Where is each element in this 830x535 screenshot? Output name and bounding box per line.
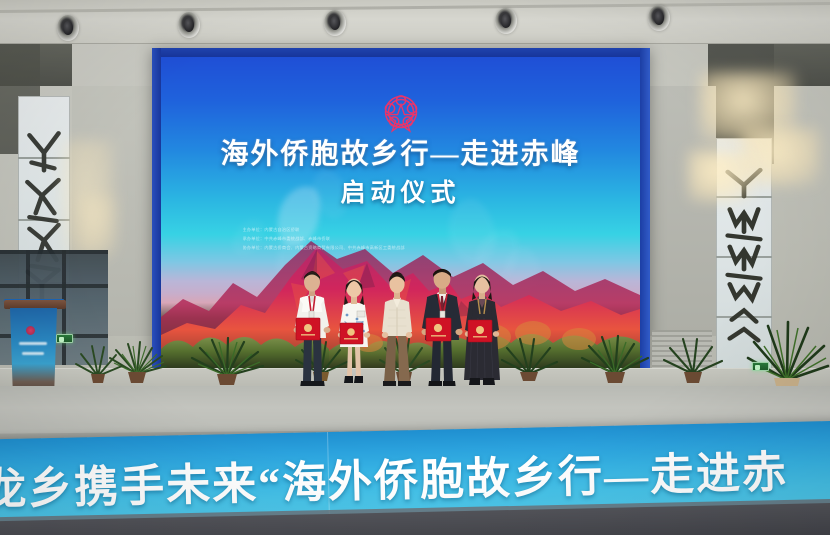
wall-vent-grille (652, 330, 712, 370)
podium-top-surface (4, 300, 66, 309)
ceiling-seam (0, 2, 830, 13)
ceiling-soffit-right (774, 44, 830, 86)
credit-line: 承办单位：中共赤峰市委统战部、赤峰市侨联 (242, 234, 558, 243)
lattice-motif-icon (722, 164, 767, 351)
led-screen-title: 海外侨胞故乡行—走进赤峰 (161, 135, 640, 175)
ceiling-spotlight-icon (495, 8, 517, 34)
podium-front-panel (7, 308, 57, 398)
person-on-stage (330, 273, 378, 395)
led-screen-credits: 主办单位：内蒙古自治区侨联 承办单位：中共赤峰市委统战部、赤峰市侨联 协办单位：… (242, 225, 558, 252)
ceiling-spotlight-icon (324, 10, 346, 36)
speaking-podium: 海外侨胞故乡行—走进赤峰 (4, 300, 66, 398)
person-on-stage (456, 270, 508, 396)
ceiling-spotlight-icon (648, 5, 670, 31)
led-screen-subtitle: 启动仪式 (161, 173, 640, 209)
overseas-chinese-federation-emblem-icon (378, 91, 424, 133)
podium-emblem-icon (26, 326, 35, 335)
event-photograph: 海外侨胞故乡行—走进赤峰 启动仪式 主办单位：内蒙古自治区侨联 承办单位：中共赤… (0, 0, 830, 535)
wall-panel-right (648, 86, 716, 336)
ceiling-spotlight-icon (57, 15, 79, 41)
credit-line: 主办单位：内蒙古自治区侨联 (242, 225, 558, 234)
exit-sign (752, 362, 769, 371)
credit-line: 协办单位：内蒙古侨商会、内蒙古资略商贸有限公司、中共赤峰市高新区工委统战部 (242, 243, 558, 252)
ceiling-spotlight-icon (178, 12, 200, 38)
decorative-lattice-window (716, 138, 772, 378)
ceiling (0, 0, 830, 44)
